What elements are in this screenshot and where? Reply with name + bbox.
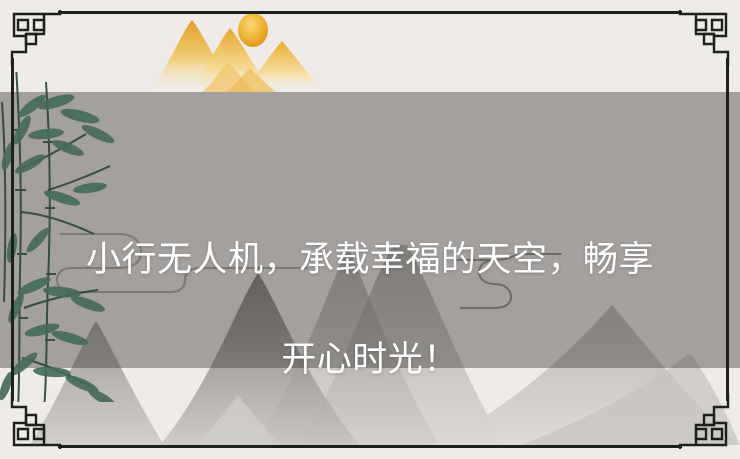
sun-icon <box>238 13 268 47</box>
chinese-fret-corner-icon <box>670 391 732 453</box>
border-rule-left <box>11 58 14 401</box>
headline-line-1: 小行无人机，承载幸福的天空，畅享 <box>40 235 700 285</box>
headline-line-2: 开心时光！ <box>40 335 700 385</box>
chinese-fret-corner-icon <box>8 6 70 68</box>
border-rule-top <box>58 11 682 14</box>
poster-canvas: 小行无人机，承载幸福的天空，畅享 开心时光！ <box>0 0 740 459</box>
border-rule-right <box>726 58 729 401</box>
chinese-fret-corner-icon <box>8 391 70 453</box>
border-rule-bottom <box>58 445 682 448</box>
chinese-fret-corner-icon <box>670 6 732 68</box>
gold-mountain-illustration <box>140 8 340 94</box>
page-title: 小行无人机，承载幸福的天空，畅享 开心时光！ <box>40 185 700 435</box>
